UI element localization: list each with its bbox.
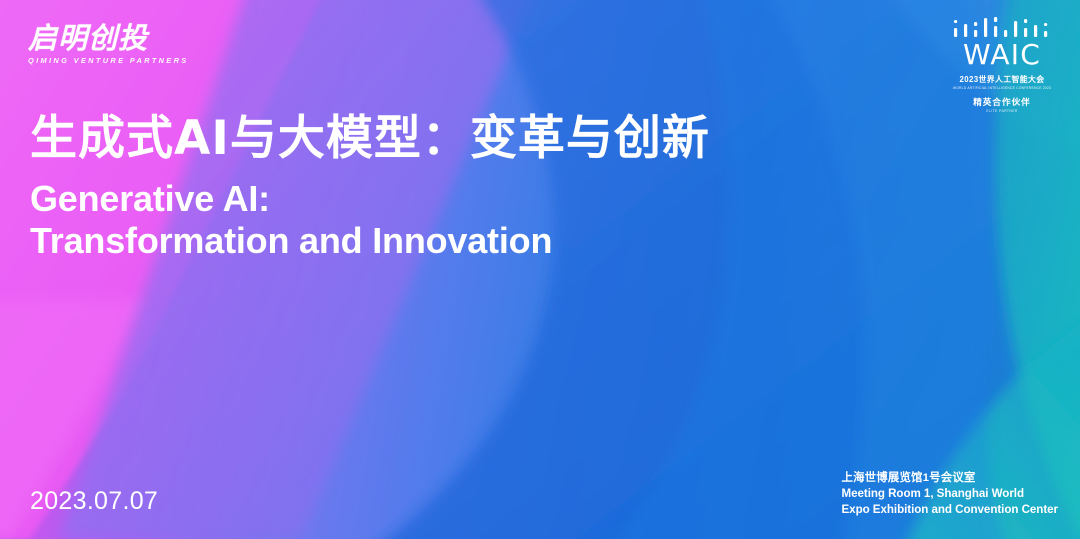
qiming-logo-en: QIMING VENTURE PARTNERS xyxy=(28,56,178,65)
waic-partner-role-en: ELITE PARTNER xyxy=(946,109,1058,113)
venue-name-en-line2: Expo Exhibition and Convention Center xyxy=(841,502,1058,517)
headline-block: 生成式AI与大模型：变革与创新 Generative AI: Transform… xyxy=(30,112,870,262)
waic-conference-name-cn: 2023世界人工智能大会 xyxy=(948,73,1056,85)
venue-name-en-line1: Meeting Room 1, Shanghai World xyxy=(841,486,1058,501)
page-title-en-line1: Generative AI: xyxy=(30,178,870,220)
venue-name-cn: 上海世博展览馆1号会议室 xyxy=(841,471,1058,486)
qiming-logo: 启明创投 QIMING VENTURE PARTNERS xyxy=(28,24,178,65)
event-date: 2023.07.07 xyxy=(30,487,158,516)
page-title-cn: 生成式AI与大模型：变革与创新 xyxy=(30,112,870,167)
venue-block: 上海世博展览馆1号会议室 Meeting Room 1, Shanghai Wo… xyxy=(841,471,1058,517)
waic-conference-name-en: WORLD ARTIFICIAL INTELLIGENCE CONFERENCE… xyxy=(950,86,1053,90)
event-poster: 启明创投 QIMING VENTURE PARTNERS xyxy=(0,0,1080,539)
waic-wordmark: WAIC xyxy=(946,41,1058,69)
waic-logo: WAIC 2023世界人工智能大会 WORLD ARTIFICIAL INTEL… xyxy=(946,14,1058,113)
background-wave-shapes xyxy=(0,0,1080,539)
page-title-en: Generative AI: Transformation and Innova… xyxy=(30,178,870,262)
waic-bars-icon xyxy=(946,14,1058,40)
waic-partner-role-cn: 精英合作伙伴 xyxy=(946,96,1058,108)
page-title-en-line2: Transformation and Innovation xyxy=(30,220,870,262)
qiming-logo-cn: 启明创投 xyxy=(28,24,178,53)
